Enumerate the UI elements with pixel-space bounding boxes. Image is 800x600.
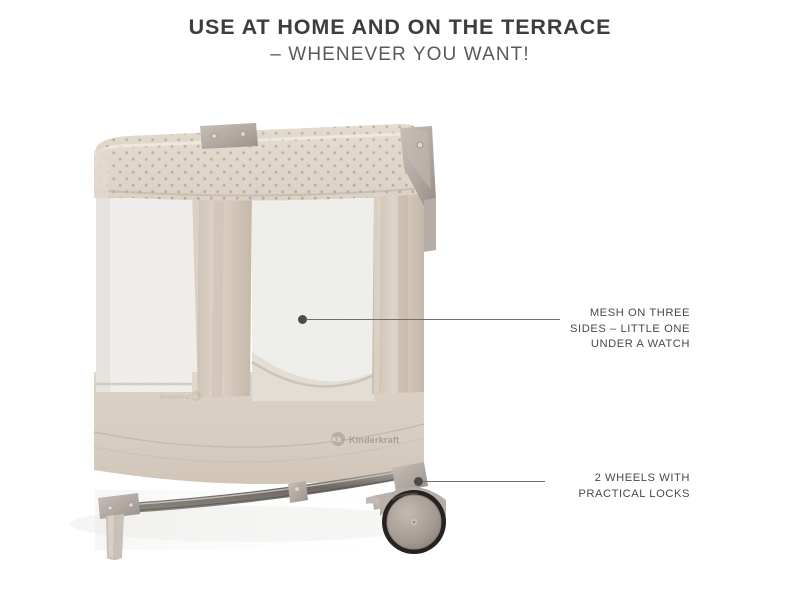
- svg-text:Kinderkraft: Kinderkraft: [160, 395, 192, 401]
- callout-mesh-line-3: UNDER A WATCH: [570, 337, 690, 353]
- fabric-vertical-post-middle: [192, 190, 252, 398]
- callout-wheels-line-2: PRACTICAL LOCKS: [578, 487, 690, 503]
- product-image: Kinderkraft Kk Kk Kinderkraft: [0, 0, 800, 600]
- callout-mesh-line-1: MESH ON THREE: [570, 306, 690, 322]
- padded-dotted-top-rail: [94, 124, 424, 201]
- callout-mesh-line-2: SIDES – LITTLE ONE: [570, 322, 690, 338]
- callout-wheels-label: 2 WHEELS WITH PRACTICAL LOCKS: [578, 471, 690, 502]
- svg-text:Kinderkraft: Kinderkraft: [349, 435, 399, 445]
- callout-wheels-line-1: 2 WHEELS WITH: [578, 471, 690, 487]
- svg-text:Kk: Kk: [332, 435, 342, 444]
- mesh-side-panel-left: [96, 196, 192, 392]
- svg-text:Kk: Kk: [191, 395, 199, 401]
- mesh-side-panel-right: [252, 196, 374, 401]
- top-rail-hinge: [200, 123, 258, 149]
- callout-mesh-leader-line: [306, 319, 560, 320]
- callout-mesh-label: MESH ON THREE SIDES – LITTLE ONE UNDER A…: [570, 306, 690, 353]
- callout-wheels-leader-line: [422, 481, 545, 482]
- brand-logo: Kk Kinderkraft: [331, 432, 399, 446]
- left-corner-fold: [94, 148, 110, 198]
- fabric-vertical-post-right: [372, 190, 424, 394]
